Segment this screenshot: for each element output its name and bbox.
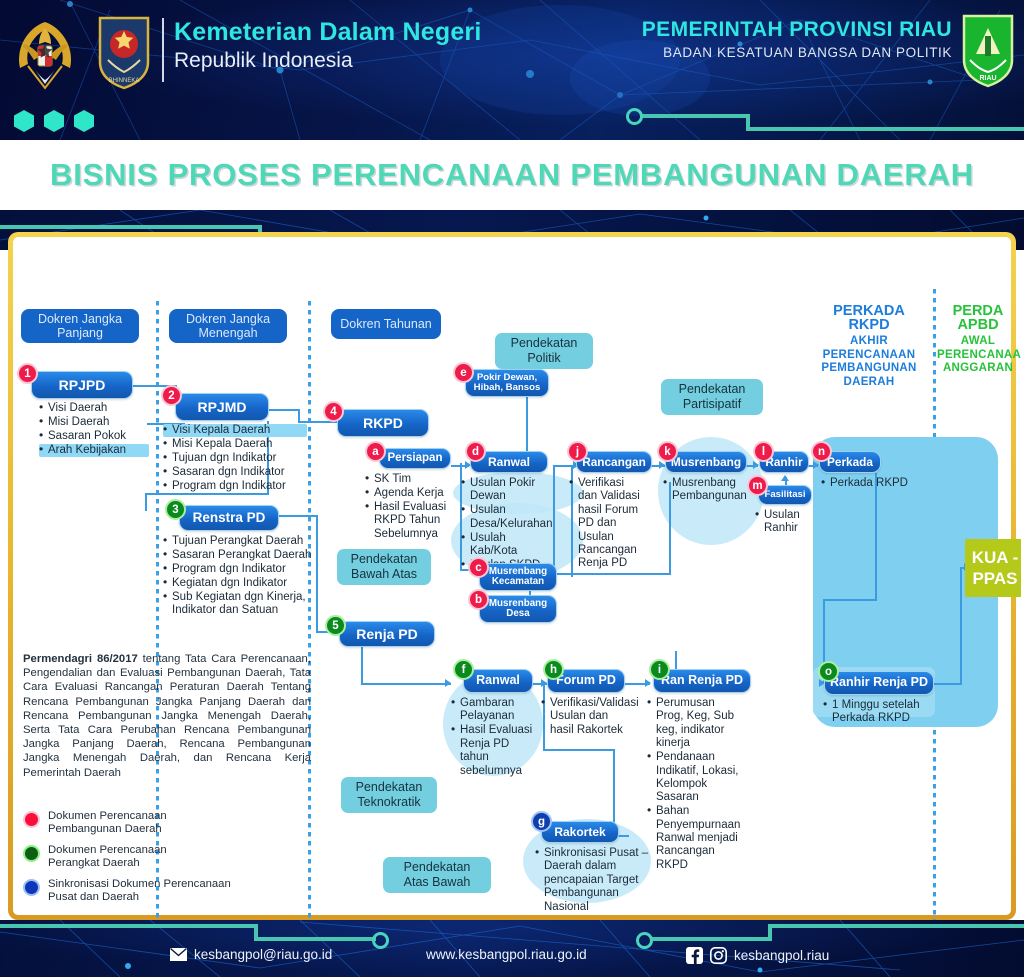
bullet: Kegiatan dgn Indikator: [163, 577, 313, 590]
legend-label: Dokumen Perencanaan Pembangunan Daerah: [48, 810, 167, 836]
pipe-ring-icon: [372, 932, 389, 949]
content-panel: Dokren Jangka Panjang Dokren Jangka Mene…: [8, 232, 1016, 920]
bullet: Gambaran Pelayanan: [451, 697, 537, 724]
infographic-page: BHINNEKA Kemeterian Dalam Negeri Republi…: [0, 0, 1024, 977]
node-musrenbang-desa[interactable]: Musrenbang Desa: [479, 595, 557, 623]
bullets-rpjpd: Visi Daerah Misi Daerah Sasaran Pokok Ar…: [39, 402, 149, 458]
bullet: Visi Daerah: [39, 402, 149, 415]
badge-renstra-pd: 3: [165, 499, 186, 520]
arrow-icon: [645, 679, 651, 687]
pipe-segment: [0, 924, 258, 928]
legend-line-1: Dokumen Perencanaan: [48, 810, 167, 823]
legend-line-2: Pembangunan Daerah: [48, 823, 167, 836]
hexagon-icon: [44, 110, 64, 132]
badge-musrenbang-kecamatan: c: [468, 557, 489, 578]
legend-dot-green-icon: [23, 845, 40, 862]
node-rpjpd[interactable]: RPJPD: [31, 371, 133, 399]
badge-forum-pd: h: [543, 659, 564, 680]
connector: [553, 465, 555, 575]
bullets-persiapan: SK Tim Agenda Kerja Hasil Evaluasi RKPD …: [365, 473, 451, 542]
hexagon-icon: [14, 110, 34, 132]
badge-ranhir-renja-pd: o: [818, 661, 839, 682]
permendagri-text: Permendagri 86/2017 tentang Tata Cara Pe…: [23, 652, 311, 780]
badge-ranwal-bottom: f: [453, 659, 474, 680]
bullets-rpjmd: Visi Kepala Daerah Misi Kepala Daerah Tu…: [163, 424, 307, 494]
badge-renja-pd: 5: [325, 615, 346, 636]
facebook-icon: [686, 947, 703, 964]
section-subtitle: AKHIR PERENCANAAN PEMBANGUNAN DAERAH: [811, 335, 927, 389]
callout-pendekatan-politik: Pendekatan Politik: [495, 333, 593, 369]
badge-fasilitasi: m: [747, 475, 768, 496]
badge-rpjpd: 1: [17, 363, 38, 384]
bullets-forum-pd: Verifikasi/Validasi Usulan dan hasil Rak…: [541, 697, 623, 738]
footer-email[interactable]: kesbangpol@riau.go.id: [170, 947, 332, 962]
node-rakortek[interactable]: Rakortek: [541, 821, 619, 843]
badge-musrenbang-desa: b: [468, 589, 489, 610]
bullet: Program dgn Indikator: [163, 563, 313, 576]
garuda-emblem-icon: [14, 16, 76, 90]
section-subtitle: AWAL PERENCANAAN ANGGARAN: [937, 335, 1019, 376]
province-subtitle: BADAN KESATUAN BANGSA DAN POLITIK: [663, 45, 952, 60]
footer-website-text: www.kesbangpol.riau.go.id: [426, 947, 587, 962]
badge-rakortek: g: [531, 811, 552, 832]
bullet: Usulan Desa/Kelurahan: [461, 504, 551, 531]
node-pokir-dewan[interactable]: Pokir Dewan, Hibah, Bansos: [465, 369, 549, 397]
legend-dot-blue-icon: [23, 879, 40, 896]
node-persiapan[interactable]: Persiapan: [379, 448, 451, 469]
badge-pokir-dewan: e: [453, 362, 474, 383]
bullet: Musrenbang Pembangunan: [663, 477, 741, 504]
footer-social-text: kesbangpol.riau: [734, 948, 829, 963]
bullet: Tujuan Perangkat Daerah: [163, 535, 313, 548]
section-perda-apbd: PERDA APBD AWAL PERENCANAAN ANGGARAN: [937, 305, 1019, 376]
legend-line-1: Dokumen Perencanaan: [48, 844, 167, 857]
legend-line-2: Pusat dan Daerah: [48, 891, 231, 904]
node-musrenbang-kecamatan[interactable]: Musrenbang Kecamatan: [479, 563, 557, 591]
node-renja-pd[interactable]: Renja PD: [339, 621, 435, 647]
legend-label: Sinkronisasi Dokumen Perencanaan Pusat d…: [48, 878, 231, 904]
bullet: Program dgn Indikator: [163, 480, 307, 493]
connector: [960, 567, 962, 685]
callout-pendekatan-partisipatif: Pendekatan Partisipatif: [661, 379, 763, 415]
bullet: SK Tim: [365, 473, 451, 486]
page-title: BISNIS PROSES PERENCANAAN PEMBANGUNAN DA…: [0, 157, 1024, 193]
pipe-segment: [0, 225, 262, 229]
connector: [875, 473, 877, 601]
node-renstra-pd[interactable]: Renstra PD: [179, 505, 279, 531]
badge-rpjmd: 2: [161, 385, 182, 406]
legend-dot-red-icon: [23, 811, 40, 828]
pipe-ring-icon: [626, 108, 643, 125]
column-header-medium-term: Dokren Jangka Menengah: [169, 309, 287, 343]
badge-rancangan: j: [567, 441, 588, 462]
bullet-highlighted: Visi Kepala Daerah: [163, 424, 307, 437]
bullet: Agenda Kerja: [365, 487, 451, 500]
kemendagri-logo-icon: BHINNEKA: [96, 14, 152, 90]
pipe-ring-icon: [636, 932, 653, 949]
badge-rkpd: 4: [323, 401, 344, 422]
arrow-icon: [445, 679, 451, 687]
bullets-ranwal-bottom: Gambaran Pelayanan Hasil Evaluasi Renja …: [451, 697, 537, 778]
bullet: 1 Minggu setelah Perkada RKPD: [823, 699, 923, 726]
connector: [823, 599, 877, 601]
node-ranhir-renja-pd[interactable]: Ranhir Renja PD: [824, 671, 934, 695]
legend: Dokumen Perencanaan Pembangunan Daerah D…: [23, 810, 313, 912]
bullet: Pendanaan Indikatif, Lokasi, Kelompok Sa…: [647, 751, 741, 805]
province-title: PEMERINTAH PROVINSI RIAU: [642, 18, 952, 42]
badge-ran-renja-pd: i: [649, 659, 670, 680]
bullet: Verifikasi/Validasi Usulan dan hasil Rak…: [541, 697, 623, 737]
bullets-rakortek: Sinkronisasi Pusat – Daerah dalam pencap…: [535, 847, 653, 915]
permendagri-bold-prefix: Permendagri 86/2017: [23, 653, 138, 665]
bullets-ranhir: Usulan Ranhir: [755, 509, 813, 536]
bullet: Perumusan Prog, Keg, Sub keg, indikator …: [647, 697, 741, 751]
node-rpjmd[interactable]: RPJMD: [175, 393, 269, 421]
bullets-ran-renja-pd: Perumusan Prog, Keg, Sub keg, indikator …: [647, 697, 741, 873]
page-header: BHINNEKA Kemeterian Dalam Negeri Republi…: [0, 0, 1024, 140]
bullets-perkada: Perkada RKPD: [821, 477, 917, 491]
header-divider: [162, 18, 164, 82]
bullet: Usulan Ranhir: [755, 509, 813, 536]
bullet: Misi Daerah: [39, 416, 149, 429]
page-footer: kesbangpol@riau.go.id www.kesbangpol.ria…: [0, 920, 1024, 977]
pipe-segment: [746, 127, 1024, 131]
section-title: PERKADA RKPD: [811, 305, 927, 332]
bullets-ranhir-renja-pd: 1 Minggu setelah Perkada RKPD: [823, 699, 923, 726]
section-title: PERDA APBD: [937, 305, 1019, 332]
ministry-subtitle: Republik Indonesia: [174, 49, 353, 73]
legend-item: Sinkronisasi Dokumen Perencanaan Pusat d…: [23, 878, 313, 904]
pipe-segment: [652, 937, 772, 941]
connector: [145, 493, 147, 511]
bullet: Misi Kepala Daerah: [163, 438, 307, 451]
hexagon-icon: [74, 110, 94, 132]
legend-item: Dokumen Perencanaan Perangkat Daerah: [23, 844, 313, 870]
badge-musrenbang: k: [657, 441, 678, 462]
connector: [361, 683, 451, 685]
bullets-renstra-pd: Tujuan Perangkat Daerah Sasaran Perangka…: [163, 535, 313, 618]
footer-website[interactable]: www.kesbangpol.riau.go.id: [426, 947, 587, 962]
bullet: Sasaran Pokok: [39, 430, 149, 443]
bullets-rancangan: Verifikasi dan Validasi hasil Forum PD d…: [569, 477, 641, 571]
connector: [316, 515, 318, 633]
badge-ranhir: l: [753, 441, 774, 462]
bullet: Sasaran Perangkat Daerah: [163, 549, 313, 562]
bullet: Perkada RKPD: [821, 477, 917, 490]
node-rkpd[interactable]: RKPD: [337, 409, 429, 437]
hexagon-decorations: [14, 110, 94, 132]
bullet: Hasil Evaluasi Renja PD tahun sebelumnya: [451, 724, 537, 778]
bullet: Usulah Kab/Kota: [461, 532, 551, 559]
pipe-segment: [768, 924, 1024, 928]
ministry-title: Kemeterian Dalam Negeri: [174, 18, 482, 47]
badge-perkada: n: [811, 441, 832, 462]
bullet: Bahan Penyempurnaan Ranwal menjadi Ranca…: [647, 805, 741, 872]
legend-line-1: Sinkronisasi Dokumen Perencanaan: [48, 878, 231, 891]
riau-province-logo-icon: RIAU: [960, 12, 1016, 88]
bullet: Hasil Evaluasi RKPD Tahun Sebelumnya: [365, 501, 451, 541]
legend-line-2: Perangkat Daerah: [48, 857, 167, 870]
connector: [278, 515, 318, 517]
connector: [526, 397, 528, 457]
callout-pendekatan-atas-bawah: Pendekatan Atas Bawah: [383, 857, 491, 893]
bullet: Tujuan dgn Indikator: [163, 452, 307, 465]
callout-pendekatan-bawah-atas: Pendekatan Bawah Atas: [337, 549, 431, 585]
badge-ranwal-top: d: [465, 441, 486, 462]
bullet: Sasaran dgn Indikator: [163, 466, 307, 479]
connector: [268, 409, 300, 411]
bullet: Verifikasi dan Validasi hasil Forum PD d…: [569, 477, 641, 571]
bullet: Sinkronisasi Pusat – Daerah dalam pencap…: [535, 847, 653, 914]
arrow-icon: [781, 475, 789, 481]
bullet: Sub Kegiatan dgn Kinerja, Indikator dan …: [163, 591, 313, 618]
column-header-long-term: Dokren Jangka Panjang: [21, 309, 139, 343]
column-header-annual: Dokren Tahunan: [331, 309, 441, 339]
svg-text:BHINNEKA: BHINNEKA: [109, 78, 140, 84]
legend-label: Dokumen Perencanaan Perangkat Daerah: [48, 844, 167, 870]
callout-pendekatan-teknokratik: Pendekatan Teknokratik: [341, 777, 437, 813]
section-perkada-rkpd: PERKADA RKPD AKHIR PERENCANAAN PEMBANGUN…: [811, 305, 927, 389]
badge-persiapan: a: [365, 441, 386, 462]
pipe-segment: [640, 114, 750, 118]
instagram-icon: [710, 947, 727, 964]
connector: [543, 749, 615, 751]
diagram-canvas: Dokren Jangka Panjang Dokren Jangka Mene…: [13, 237, 1021, 925]
pipe-segment: [254, 937, 376, 941]
footer-social[interactable]: kesbangpol.riau: [686, 947, 829, 964]
footer-email-text: kesbangpol@riau.go.id: [194, 947, 332, 962]
bullets-musrenbang: Musrenbang Pembangunan: [663, 477, 741, 504]
legend-item: Dokumen Perencanaan Pembangunan Daerah: [23, 810, 313, 836]
envelope-icon: [170, 948, 187, 961]
bullet-highlighted: Arah Kebijakan: [39, 444, 149, 457]
svg-text:RIAU: RIAU: [979, 75, 996, 82]
kua-ppas-box: KUA - PPAS: [965, 539, 1021, 597]
bullet: Usulan Pokir Dewan: [461, 477, 551, 504]
permendagri-body: tentang Tata Cara Perencanaan, Pengendal…: [23, 653, 311, 779]
